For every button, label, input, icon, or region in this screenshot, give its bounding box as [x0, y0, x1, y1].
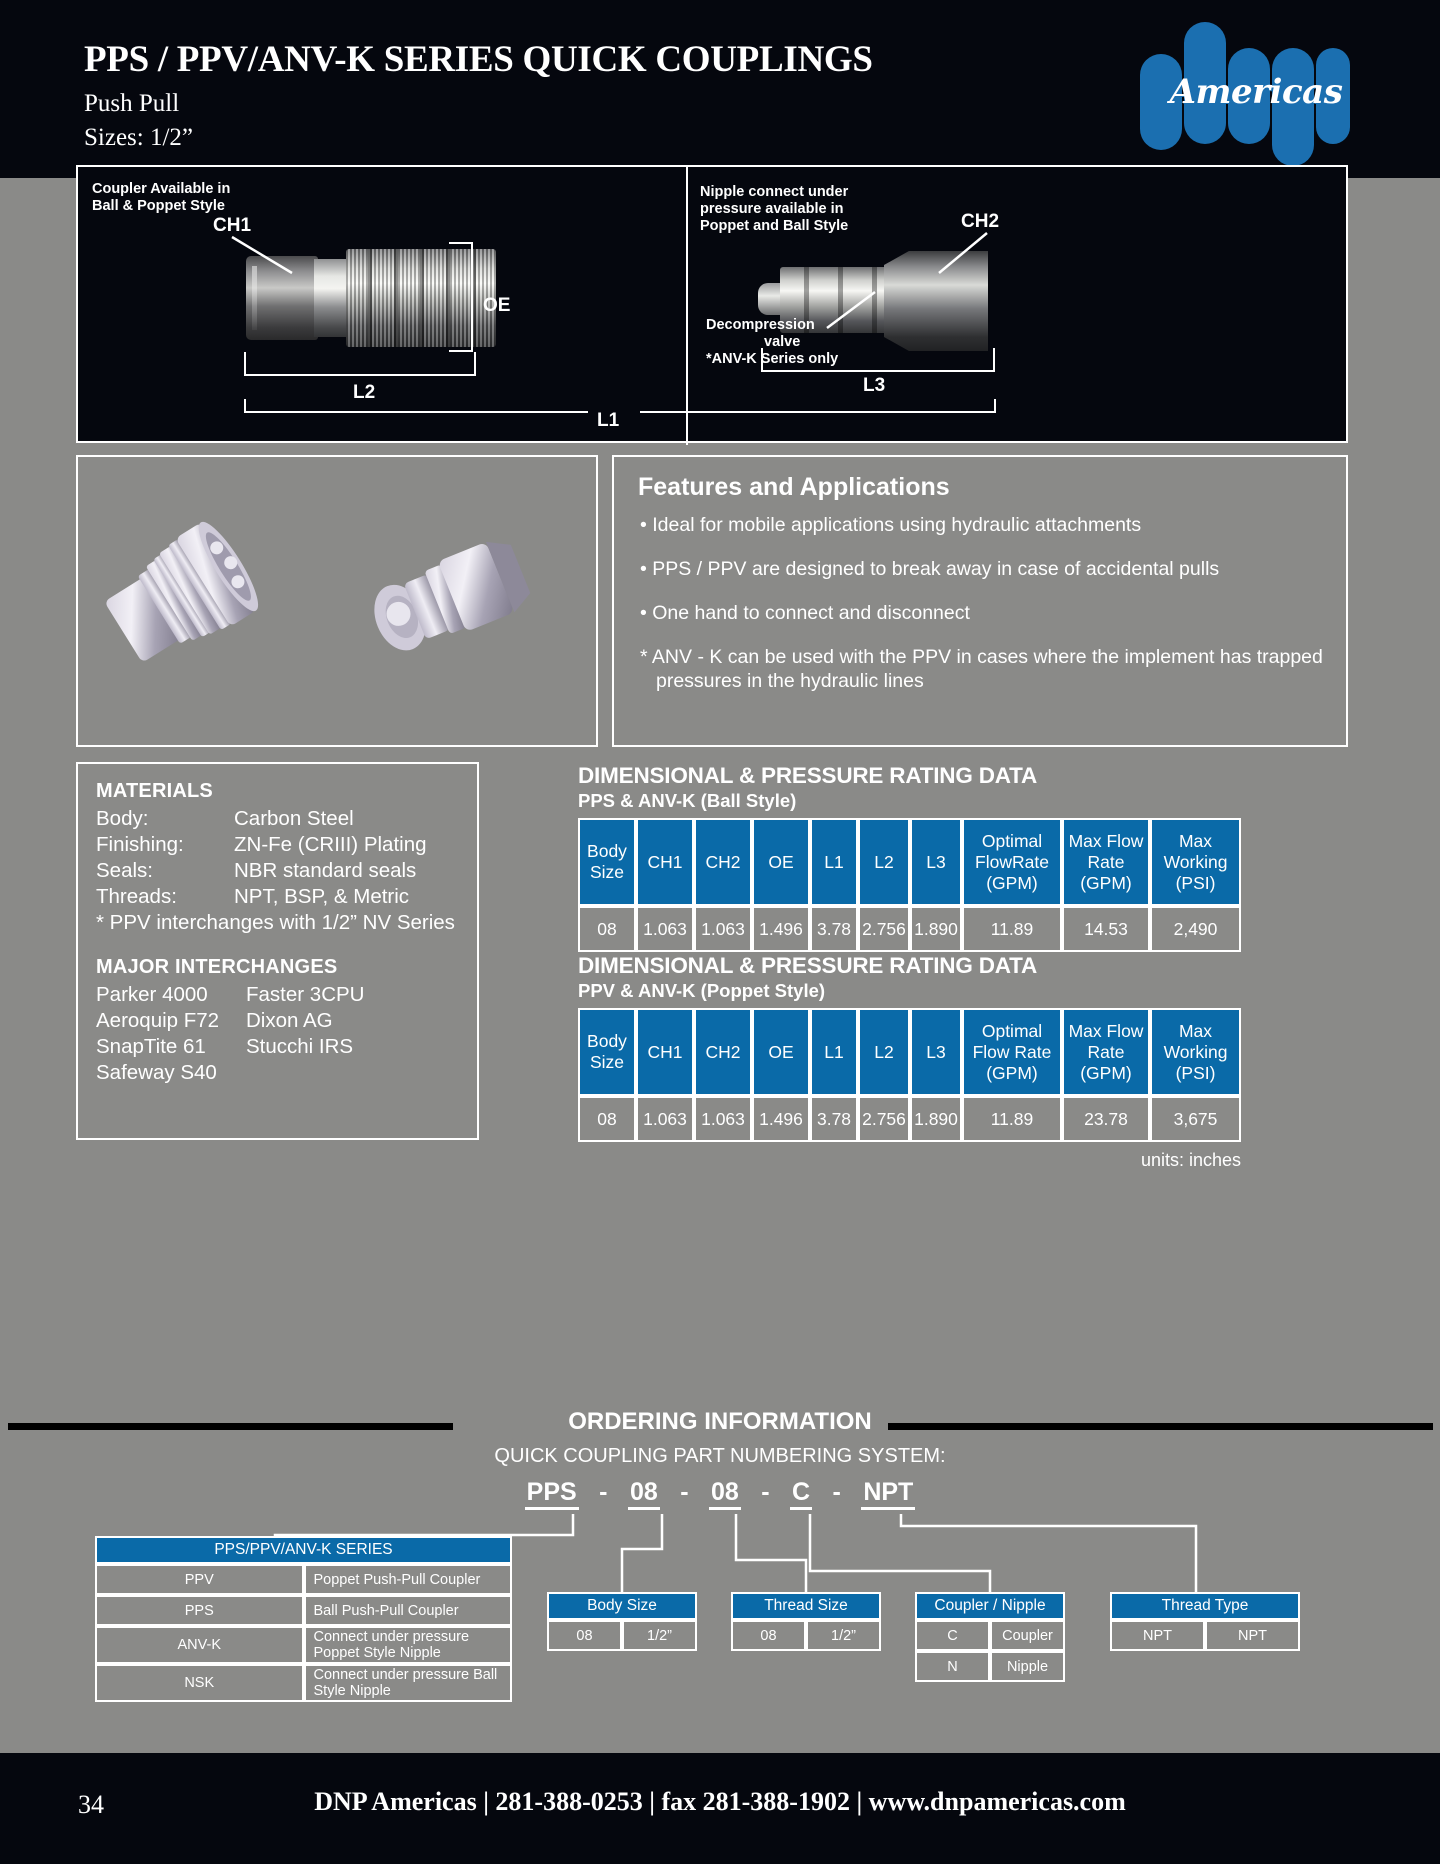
l2-bracket [244, 374, 476, 376]
interchange-left: SnapTite 61 [96, 1034, 246, 1060]
nipple-3d-render [366, 537, 536, 657]
col-l1: L1 [810, 1008, 858, 1096]
materials-row: Seals: NBR standard seals [96, 858, 476, 884]
page-title: PPS / PPV/ANV-K SERIES QUICK COUPLINGS [84, 38, 873, 81]
series-desc: Connect under pressure Ball Style Nipple [304, 1664, 513, 1702]
photo-panel-divider [686, 167, 688, 445]
col-body-size: BodySize [578, 1008, 636, 1096]
col-l3: L3 [910, 818, 962, 906]
cell-ch1: 1.063 [636, 1096, 694, 1142]
ch2-dimension-label: CH2 [961, 211, 999, 233]
l1-bracket-right [640, 411, 996, 413]
cell-max-flow-rate: 23.78 [1062, 1096, 1150, 1142]
materials-key: Body: [96, 806, 234, 832]
materials-row: Body: Carbon Steel [96, 806, 476, 832]
ordering-title: ORDERING INFORMATION [0, 1408, 1440, 1436]
logo-wordmark: Americas [1166, 72, 1346, 112]
series-desc: Poppet Push-Pull Coupler [304, 1564, 513, 1595]
oe-dimension-label: OE [483, 295, 510, 317]
cell-body-size: 08 [578, 1096, 636, 1142]
thread-size-key-table: Thread Size 08 1/2” [731, 1592, 881, 1651]
ch2-leader-line [933, 231, 993, 277]
product-photo-panel: Coupler Available in Ball & Poppet Style… [76, 165, 1348, 443]
nipple-caption-line2: pressure available in [700, 201, 843, 218]
thread-size-header-row: Thread Size [731, 1592, 881, 1620]
series-key-table: PPS/PPV/ANV-K SERIES PPV Poppet Push-Pul… [95, 1536, 512, 1702]
interchange-row: Safeway S40 [96, 1060, 476, 1086]
materials-row: Threads: NPT, BSP, & Metric [96, 884, 476, 910]
page-footer: 34 DNP Americas | 281-388-0253 | fax 281… [0, 1753, 1440, 1864]
thread-type-key-table: Thread Type NPT NPT [1110, 1592, 1300, 1651]
page-header: PPS / PPV/ANV-K SERIES QUICK COUPLINGS P… [0, 0, 1440, 178]
coupler-nipple-row: N Nipple [915, 1651, 1065, 1682]
col-ch2: CH2 [694, 818, 752, 906]
l2-bracket-left [244, 352, 246, 376]
col-ch1: CH1 [636, 818, 694, 906]
l3-dimension-label: L3 [863, 375, 885, 397]
thread-type-header: Thread Type [1110, 1592, 1300, 1620]
col-body-size: BodySize [578, 818, 636, 906]
features-panel: Features and Applications • Ideal for mo… [612, 455, 1348, 747]
cell-oe: 1.496 [752, 1096, 810, 1142]
features-title: Features and Applications [638, 473, 950, 502]
l3-bracket-left [761, 348, 763, 372]
body-size-code: 08 [547, 1620, 622, 1651]
col-max-flow-rate: Max FlowRate(GPM) [1062, 818, 1150, 906]
cell-max-working: 2,490 [1150, 906, 1241, 952]
l3-bracket [761, 370, 995, 372]
feature-note: * ANV - K can be used with the PPV in ca… [640, 645, 1330, 693]
thread-size-row: 08 1/2” [731, 1620, 881, 1651]
cell-l3: 1.890 [910, 906, 962, 952]
interchange-right: Stucchi IRS [246, 1034, 353, 1060]
thread-type-desc: NPT [1205, 1620, 1300, 1651]
materials-key: Finishing: [96, 832, 234, 858]
table-row: 08 1.063 1.063 1.496 3.78 2.756 1.890 11… [578, 1096, 1241, 1142]
coupler-knurled-sleeve [346, 249, 496, 347]
l1-tick-right [994, 399, 996, 413]
units-note: units: inches [1141, 1150, 1241, 1171]
body-size-desc: 1/2” [622, 1620, 697, 1651]
cell-l3: 1.890 [910, 1096, 962, 1142]
feature-item: • One hand to connect and disconnect [640, 601, 1330, 625]
thread-size-code: 08 [731, 1620, 806, 1651]
series-code: PPV [95, 1564, 304, 1595]
col-max-working: Max Working(PSI) [1150, 818, 1241, 906]
l1-tick-left [244, 399, 246, 413]
ch1-dimension-label: CH1 [213, 215, 251, 237]
series-code: ANV-K [95, 1626, 304, 1664]
coupler-nipple-header-row: Coupler / Nipple [915, 1592, 1065, 1620]
body-size-header-row: Body Size [547, 1592, 697, 1620]
col-l1: L1 [810, 818, 858, 906]
series-code: NSK [95, 1664, 304, 1702]
materials-panel: MATERIALS Body: Carbon Steel Finishing: … [76, 762, 479, 1140]
table-header-row: BodySize CH1 CH2 OE L1 L2 L3 OptimalFlow… [578, 1008, 1241, 1096]
series-desc: Ball Push-Pull Coupler [304, 1595, 513, 1626]
interchange-left: Safeway S40 [96, 1060, 246, 1086]
iso-render-panel [76, 455, 598, 747]
series-header: PPS/PPV/ANV-K SERIES [95, 1536, 512, 1564]
cell-l1: 3.78 [810, 906, 858, 952]
coupler-nipple-code: C [915, 1620, 990, 1651]
thread-size-desc: 1/2” [806, 1620, 881, 1651]
table-row: 08 1.063 1.063 1.496 3.78 2.756 1.890 11… [578, 906, 1241, 952]
materials-key: Threads: [96, 884, 234, 910]
cell-l2: 2.756 [858, 906, 910, 952]
coupler-nipple-desc: Coupler [990, 1620, 1065, 1651]
cell-optimal-flow-rate: 11.89 [962, 906, 1062, 952]
materials-key: Seals: [96, 858, 234, 884]
series-desc: Connect under pressure Poppet Style Nipp… [304, 1626, 513, 1664]
cell-optimal-flow-rate: 11.89 [962, 1096, 1062, 1142]
thread-type-header-row: Thread Type [1110, 1592, 1300, 1620]
col-optimal-flow-rate: OptimalFlowRate(GPM) [962, 818, 1062, 906]
coupler-nipple-desc: Nipple [990, 1651, 1065, 1682]
body-size-key-table: Body Size 08 1/2” [547, 1592, 697, 1651]
feature-item: • Ideal for mobile applications using hy… [640, 513, 1330, 537]
interchange-row: Aeroquip F72 Dixon AG [96, 1008, 476, 1034]
cell-body-size: 08 [578, 906, 636, 952]
coupler-nipple-key-table: Coupler / Nipple C Coupler N Nipple [915, 1592, 1065, 1682]
ball-style-table: BodySize CH1 CH2 OE L1 L2 L3 OptimalFlow… [578, 818, 1241, 952]
interchange-right: Dixon AG [246, 1008, 333, 1034]
header-subtitle-push-pull: Push Pull [84, 90, 179, 118]
coupler-nipple-code: N [915, 1651, 990, 1682]
decompression-leader-line [823, 290, 879, 332]
major-interchanges-rows: Parker 4000 Faster 3CPU Aeroquip F72 Dix… [96, 982, 476, 1086]
decompression-label-line2: valve [764, 334, 800, 351]
poppet-table-title: DIMENSIONAL & PRESSURE RATING DATA [578, 952, 1241, 979]
ball-style-table-block: DIMENSIONAL & PRESSURE RATING DATA PPS &… [578, 762, 1241, 952]
major-interchanges-heading: MAJOR INTERCHANGES [96, 956, 337, 979]
col-l2: L2 [858, 818, 910, 906]
cell-ch2: 1.063 [694, 1096, 752, 1142]
cell-l1: 3.78 [810, 1096, 858, 1142]
ball-table-title: DIMENSIONAL & PRESSURE RATING DATA [578, 762, 1241, 789]
series-row: PPV Poppet Push-Pull Coupler [95, 1564, 512, 1595]
l2-bracket-right [474, 352, 476, 376]
col-max-working: Max Working(PSI) [1150, 1008, 1241, 1096]
coupler-collar [314, 259, 348, 337]
series-row: ANV-K Connect under pressure Poppet Styl… [95, 1626, 512, 1664]
oe-bracket-vertical [471, 242, 473, 352]
features-list: • Ideal for mobile applications using hy… [640, 513, 1330, 713]
thread-size-header: Thread Size [731, 1592, 881, 1620]
decompression-label-line3: *ANV-K Series only [706, 351, 838, 368]
coupler-nipple-header: Coupler / Nipple [915, 1592, 1065, 1620]
cell-ch1: 1.063 [636, 906, 694, 952]
col-ch1: CH1 [636, 1008, 694, 1096]
l3-bracket-right [993, 348, 995, 372]
materials-heading: MATERIALS [96, 780, 213, 803]
oe-bracket-bottom [449, 350, 473, 352]
coupler-nipple-row: C Coupler [915, 1620, 1065, 1651]
interchange-left: Parker 4000 [96, 982, 246, 1008]
col-l3: L3 [910, 1008, 962, 1096]
interchange-row: SnapTite 61 Stucchi IRS [96, 1034, 476, 1060]
cell-oe: 1.496 [752, 906, 810, 952]
materials-rows: Body: Carbon Steel Finishing: ZN-Fe (CRI… [96, 806, 476, 936]
body-size-header: Body Size [547, 1592, 697, 1620]
interchange-row: Parker 4000 Faster 3CPU [96, 982, 476, 1008]
col-max-flow-rate: Max FlowRate(GPM) [1062, 1008, 1150, 1096]
materials-note: * PPV interchanges with 1/2” NV Series [96, 910, 476, 936]
materials-value: NBR standard seals [234, 858, 416, 884]
footer-contact-info: DNP Americas | 281-388-0253 | fax 281-38… [0, 1787, 1440, 1817]
col-ch2: CH2 [694, 1008, 752, 1096]
decompression-label-line1: Decompression [706, 317, 815, 334]
poppet-style-table-block: DIMENSIONAL & PRESSURE RATING DATA PPV &… [578, 952, 1241, 1142]
poppet-table-subtitle: PPV & ANV-K (Poppet Style) [578, 979, 1241, 1003]
nipple-caption-line3: Poppet and Ball Style [700, 218, 848, 235]
poppet-style-table: BodySize CH1 CH2 OE L1 L2 L3 OptimalFlow… [578, 1008, 1241, 1142]
interchange-right: Faster 3CPU [246, 982, 364, 1008]
cell-l2: 2.756 [858, 1096, 910, 1142]
materials-value: Carbon Steel [234, 806, 354, 832]
materials-value: NPT, BSP, & Metric [234, 884, 409, 910]
dnp-americas-logo: Americas [1140, 14, 1350, 154]
l1-dimension-label: L1 [597, 410, 619, 432]
col-optimal-flow-rate: OptimalFlow Rate(GPM) [962, 1008, 1062, 1096]
col-l2: L2 [858, 1008, 910, 1096]
ch1-leader-line [228, 235, 298, 277]
header-subtitle-sizes: Sizes: 1/2” [84, 124, 193, 152]
interchange-left: Aeroquip F72 [96, 1008, 246, 1034]
cell-max-flow-rate: 14.53 [1062, 906, 1150, 952]
cell-max-working: 3,675 [1150, 1096, 1241, 1142]
coupler-3d-render [106, 505, 266, 680]
cell-ch2: 1.063 [694, 906, 752, 952]
series-code: PPS [95, 1595, 304, 1626]
ball-table-subtitle: PPS & ANV-K (Ball Style) [578, 789, 1241, 813]
thread-type-row: NPT NPT [1110, 1620, 1300, 1651]
coupler-caption-line2: Ball & Poppet Style [92, 198, 225, 215]
coupler-caption-line1: Coupler Available in [92, 181, 230, 198]
body-size-row: 08 1/2” [547, 1620, 697, 1651]
series-row: NSK Connect under pressure Ball Style Ni… [95, 1664, 512, 1702]
table-header-row: BodySize CH1 CH2 OE L1 L2 L3 OptimalFlow… [578, 818, 1241, 906]
col-oe: OE [752, 818, 810, 906]
l1-bracket-left [244, 411, 588, 413]
col-oe: OE [752, 1008, 810, 1096]
thread-type-code: NPT [1110, 1620, 1205, 1651]
materials-row: Finishing: ZN-Fe (CRIII) Plating [96, 832, 476, 858]
l2-dimension-label: L2 [353, 382, 375, 404]
ordering-subtitle: QUICK COUPLING PART NUMBERING SYSTEM: [0, 1445, 1440, 1468]
oe-bracket-top [449, 242, 473, 244]
series-row: PPS Ball Push-Pull Coupler [95, 1595, 512, 1626]
series-header-row: PPS/PPV/ANV-K SERIES [95, 1536, 512, 1564]
materials-value: ZN-Fe (CRIII) Plating [234, 832, 427, 858]
feature-item: • PPS / PPV are designed to break away i… [640, 557, 1330, 581]
nipple-caption-line1: Nipple connect under [700, 184, 848, 201]
